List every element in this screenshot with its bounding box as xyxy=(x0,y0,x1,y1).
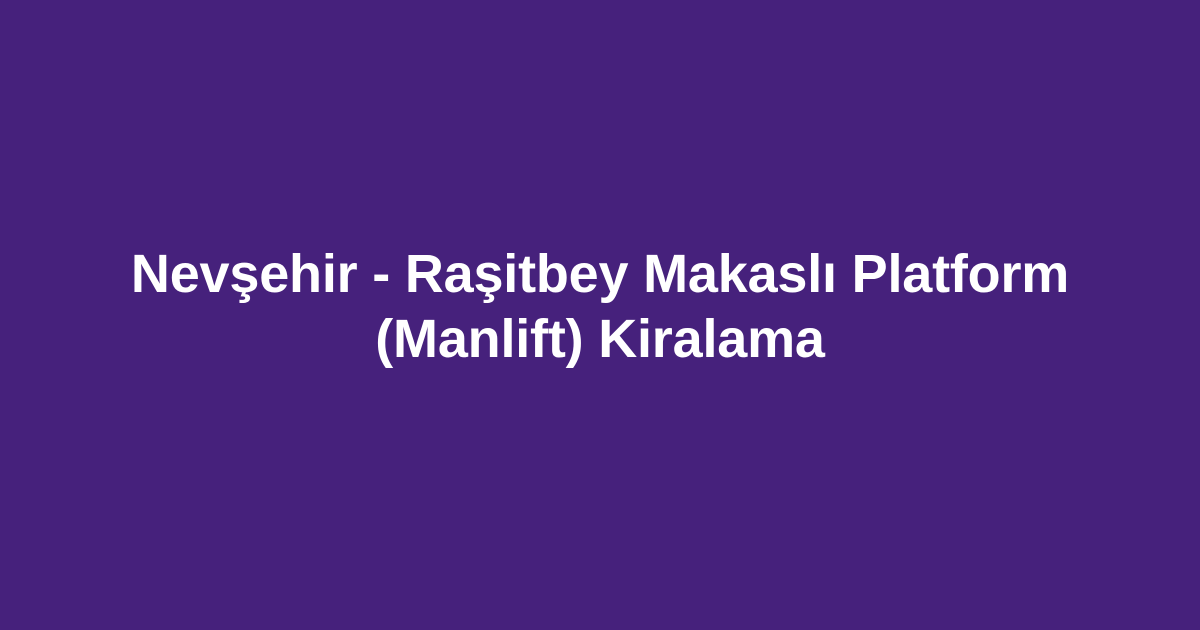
card-content: Nevşehir - Raşitbey Makaslı Platform (Ma… xyxy=(100,242,1100,372)
page-title: Nevşehir - Raşitbey Makaslı Platform (Ma… xyxy=(100,242,1100,372)
share-card: Nevşehir - Raşitbey Makaslı Platform (Ma… xyxy=(0,0,1200,630)
